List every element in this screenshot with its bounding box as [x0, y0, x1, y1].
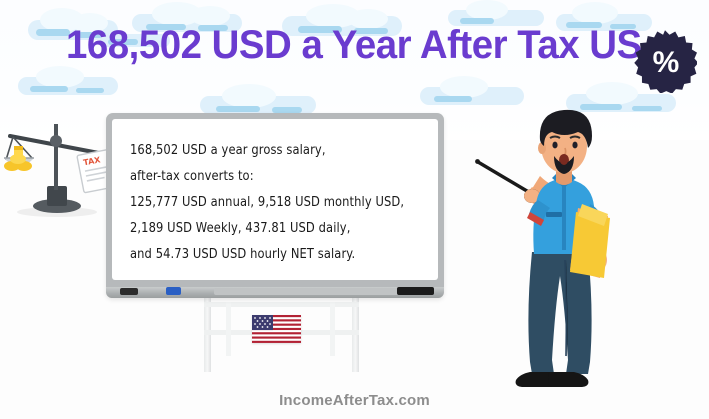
stand-inner-leg-right: [330, 302, 335, 356]
shoe-right-icon: [548, 372, 588, 387]
whiteboard-line: 168,502 USD a year gross salary,: [130, 135, 426, 164]
whiteboard-line: 2,189 USD Weekly, 437.81 USD daily,: [130, 213, 426, 242]
whiteboard-face: 168,502 USD a year gross salary, after-t…: [112, 119, 438, 280]
whiteboard: 168,502 USD a year gross salary, after-t…: [106, 113, 444, 298]
balance-scale-icon: TAX: [2, 108, 112, 220]
pointer-stick-icon: [475, 159, 532, 194]
folder-icon: [570, 204, 610, 278]
us-flag-icon: [252, 315, 301, 343]
poster-canvas: 168,502 USD a Year After Tax US %: [0, 0, 709, 419]
eraser-icon: [120, 288, 138, 295]
percent-badge: %: [633, 29, 697, 93]
blue-marker-icon: [166, 287, 181, 295]
teacher-illustration: [470, 100, 660, 390]
whiteboard-line: and 54.73 USD USD hourly NET salary.: [130, 239, 426, 268]
whiteboard-tray: [106, 287, 444, 298]
whiteboard-text: 168,502 USD a year gross salary, after-t…: [130, 135, 426, 265]
whiteboard-line: after-tax converts to:: [130, 161, 426, 190]
site-footer: IncomeAfterTax.com: [0, 392, 709, 409]
black-marker-icon: [397, 287, 434, 295]
page-title: 168,502 USD a Year After Tax US: [66, 23, 604, 67]
whiteboard-stand: [170, 296, 400, 374]
whiteboard-line: 125,777 USD annual, 9,518 USD monthly US…: [130, 187, 426, 216]
percent-symbol: %: [633, 29, 697, 93]
stand-inner-leg-left: [226, 302, 231, 356]
